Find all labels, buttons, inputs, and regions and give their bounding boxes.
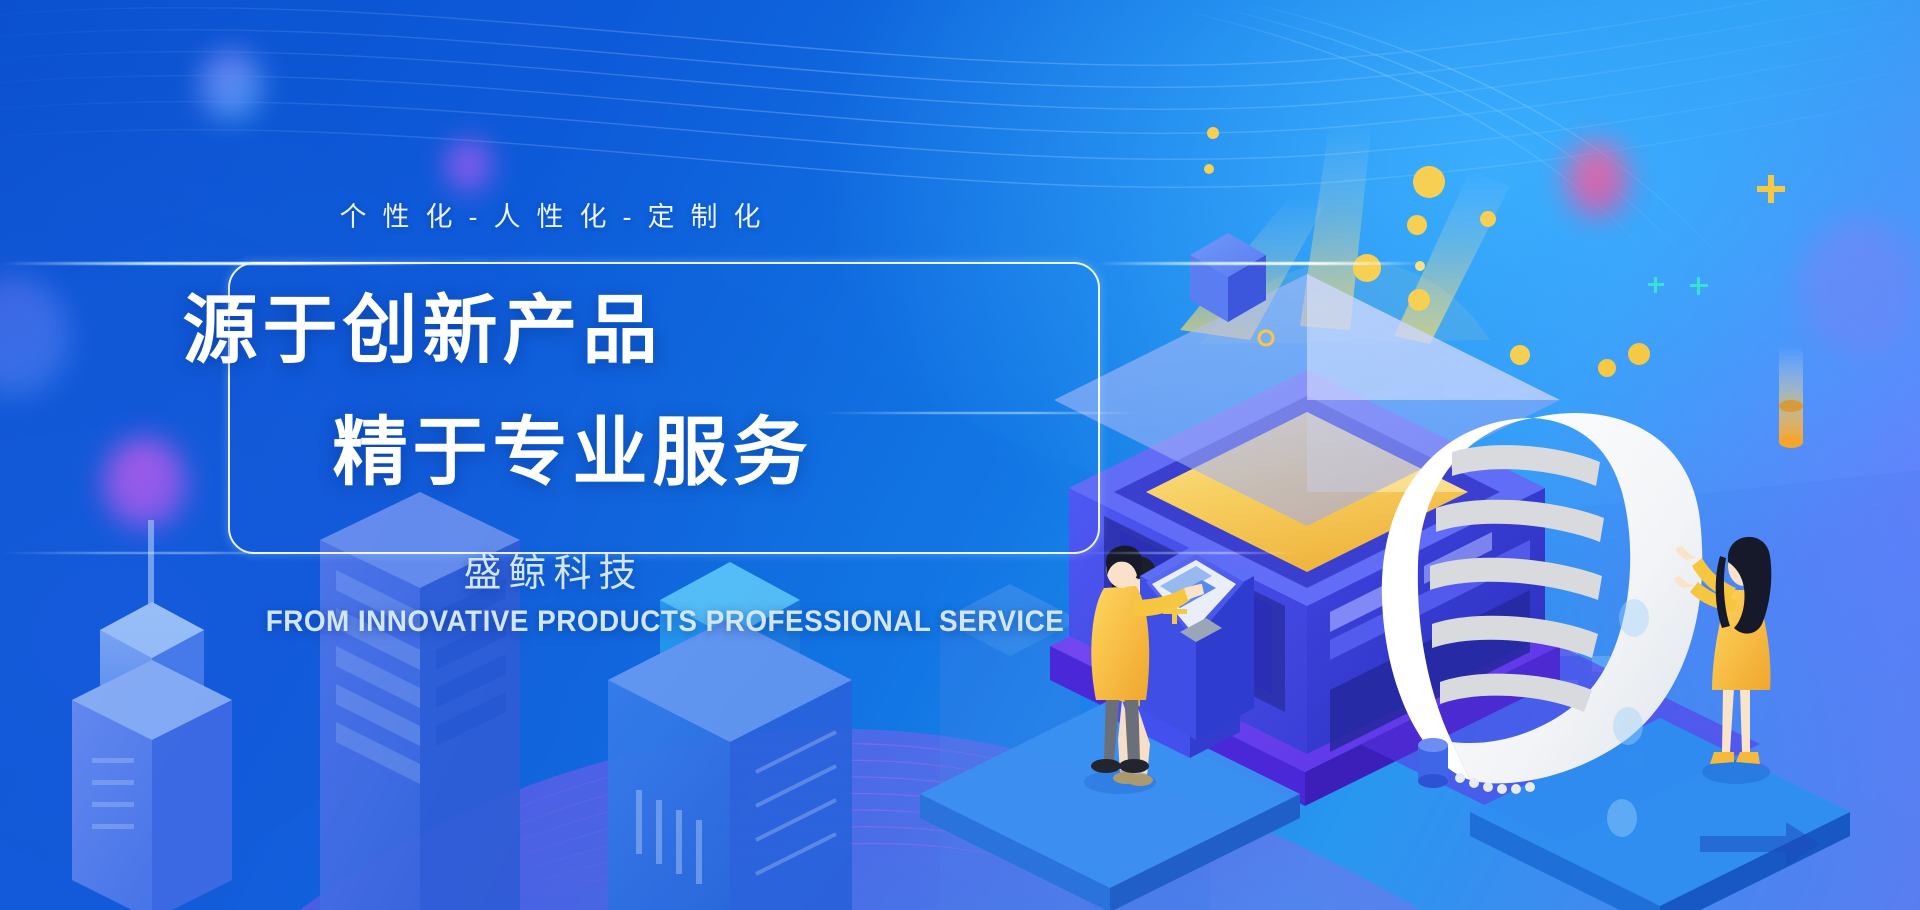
glow-line-top-left	[0, 262, 440, 265]
gold-particle	[1413, 166, 1445, 198]
left-platform	[920, 700, 1300, 910]
glow-line-top-right	[1095, 262, 1425, 265]
seated-woman-with-laptop	[1096, 556, 1240, 786]
gold-light-beam	[1180, 120, 1510, 344]
tagline: 个性化-人性化-定制化	[0, 195, 1100, 234]
orb-purple-top	[446, 140, 492, 192]
promo-banner: 个性化-人性化-定制化 源于创新产品 精于专业服务 盛鲸科技 FROM INNO…	[0, 0, 1920, 910]
gold-cylinder	[1779, 346, 1803, 448]
gold-ring-marker	[1259, 331, 1273, 345]
blue-cylinder	[1418, 738, 1448, 788]
orb-pink-right	[1566, 142, 1628, 216]
main-platform	[1050, 520, 1760, 842]
orb-blue-top	[200, 50, 262, 120]
brand-name-cn: 盛鲸科技	[0, 542, 1100, 597]
glow-line-mid	[820, 412, 1140, 414]
glowing-printer-machine	[1054, 127, 1650, 754]
teal-plus-marker	[1648, 277, 1664, 293]
orb-violet-right	[1800, 218, 1920, 358]
arrow-marker	[1700, 822, 1820, 866]
man-at-kiosk-terminal	[1084, 544, 1254, 794]
headline-line-2: 精于专业服务	[20, 415, 1120, 490]
gold-plus-marker	[1757, 175, 1785, 203]
teal-plus-marker	[1690, 277, 1708, 295]
floating-cube	[1190, 233, 1266, 322]
glow-line-bottom-right	[1080, 552, 1300, 554]
right-platform	[1470, 718, 1850, 910]
decorative-markers	[1163, 175, 1803, 837]
brand-name-en: FROM INNOVATIVE PRODUCTS PROFESSIONAL SE…	[47, 605, 1284, 639]
long-paper-receipt	[1382, 413, 1702, 794]
headline-line-1: 源于创新产品	[0, 293, 970, 368]
standing-woman-yellow-dress	[1674, 537, 1771, 784]
